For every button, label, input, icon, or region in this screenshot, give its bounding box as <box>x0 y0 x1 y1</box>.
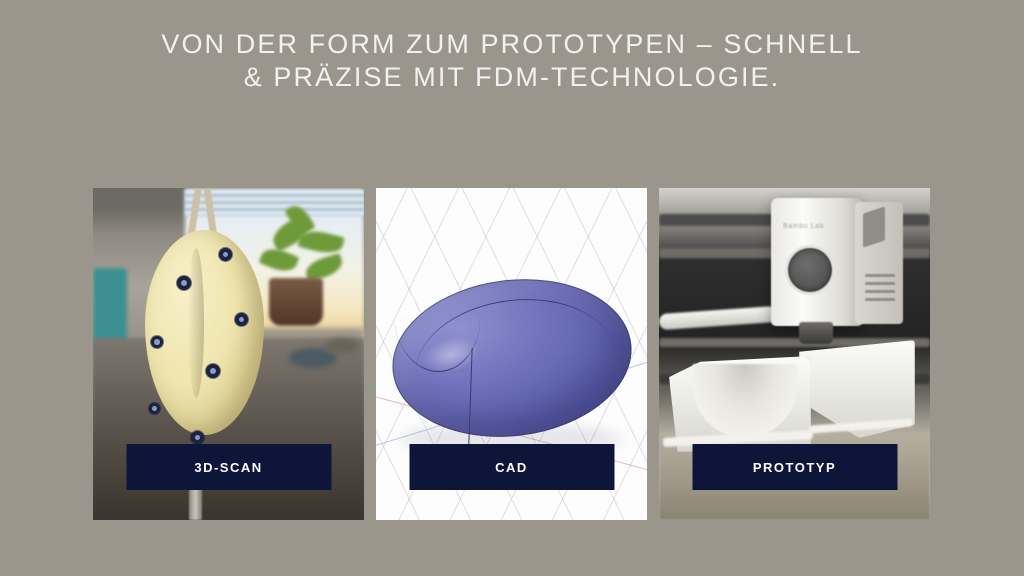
card-label-text: PROTOTYP <box>753 460 836 475</box>
process-card-row: 3D-SCAN CAD <box>93 188 931 520</box>
process-card-cad[interactable]: CAD <box>376 188 647 520</box>
scan-marker <box>151 336 163 348</box>
card-label-text: CAD <box>495 460 528 475</box>
card-label-3d-scan[interactable]: 3D-SCAN <box>126 444 331 490</box>
slide-root: VON DER FORM ZUM PROTOTYPEN – SCHNELL & … <box>0 0 1024 576</box>
printer-brand-label: Bambu Lab <box>783 223 824 230</box>
scan-marker <box>177 276 191 290</box>
scan-marker <box>235 313 248 326</box>
scan-marker <box>149 403 160 414</box>
title-line-1: VON DER FORM ZUM PROTOTYPEN – SCHNELL <box>0 28 1024 61</box>
title-line-2: & PRÄZISE MIT FDM-TECHNOLOGIE. <box>0 61 1024 94</box>
scan-marker <box>219 248 232 261</box>
toolhead-vent <box>863 206 885 247</box>
toolhead-vent <box>865 274 895 277</box>
background-object <box>325 338 359 354</box>
card-label-cad[interactable]: CAD <box>409 444 614 490</box>
toolhead-vent <box>865 282 895 285</box>
printer-nozzle <box>799 322 833 344</box>
card-label-prototyp[interactable]: PROTOTYP <box>692 444 897 490</box>
card-label-text: 3D-SCAN <box>194 460 262 475</box>
scan-marker <box>191 431 204 444</box>
toolhead-fan-icon <box>788 248 832 292</box>
page-title: VON DER FORM ZUM PROTOTYPEN – SCHNELL & … <box>0 28 1024 94</box>
process-card-3d-scan[interactable]: 3D-SCAN <box>93 188 364 520</box>
plant-pot <box>269 278 323 326</box>
process-card-prototyp[interactable]: Bambu Lab PROTOTYP <box>659 188 930 520</box>
egg-shading <box>188 248 204 398</box>
toolhead-vent <box>865 298 895 301</box>
scan-marker <box>206 364 220 378</box>
toolhead-vent <box>865 290 895 293</box>
